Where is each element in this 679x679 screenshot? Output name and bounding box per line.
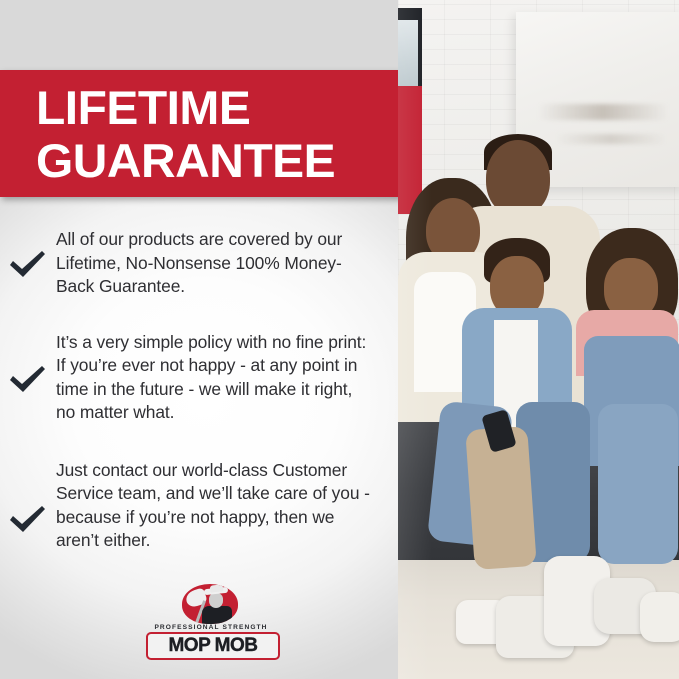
headline-banner: LIFETIME GUARANTEE (0, 70, 415, 197)
headline-line-2: GUARANTEE (36, 134, 423, 187)
headline-line-1: LIFETIME (36, 81, 423, 134)
photo-edge-shading (398, 0, 679, 679)
checkmark-icon (0, 228, 56, 280)
guarantee-infographic: LIFETIME GUARANTEE All of our products a… (0, 0, 679, 679)
mascot-body (202, 606, 232, 624)
family-photo (398, 0, 679, 679)
brand-logo: PROFESSIONAL STRENGTH MOP MOB (146, 584, 276, 654)
list-item-text: Just contact our world-class Customer Se… (56, 459, 371, 553)
logo-wordmark: MOP MOB (146, 632, 280, 660)
checkmark-icon (0, 331, 56, 395)
list-item: All of our products are covered by our L… (0, 228, 400, 299)
left-content-panel: LIFETIME GUARANTEE All of our products a… (0, 0, 400, 679)
logo-wordmark-text: MOP MOB (168, 635, 257, 657)
list-item-text: All of our products are covered by our L… (56, 228, 371, 299)
mascot-hat-top (210, 584, 224, 592)
list-item: Just contact our world-class Customer Se… (0, 459, 400, 553)
list-item-text: It’s a very simple policy with no fine p… (56, 331, 371, 425)
mascot-face (209, 593, 223, 608)
guarantee-bullet-list: All of our products are covered by our L… (0, 228, 400, 577)
list-item: It’s a very simple policy with no fine p… (0, 331, 400, 425)
checkmark-icon (0, 459, 56, 535)
mascot-icon (182, 584, 238, 624)
logo-tagline: PROFESSIONAL STRENGTH (146, 624, 276, 631)
